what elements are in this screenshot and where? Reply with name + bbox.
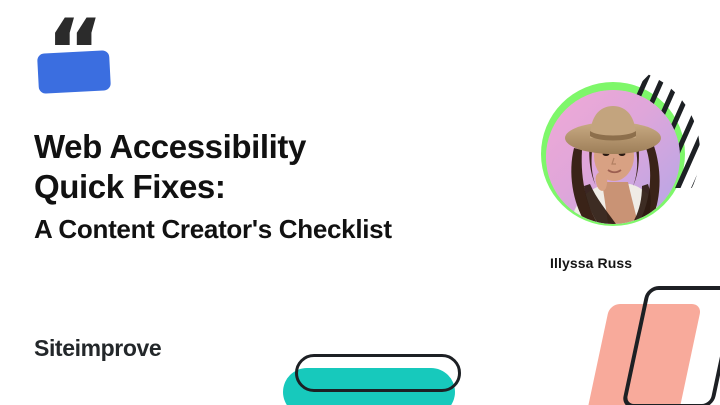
title-line-2: Quick Fixes: <box>34 167 504 207</box>
title-subline: A Content Creator's Checklist <box>34 214 504 245</box>
decoration-pills <box>280 348 480 405</box>
decoration-pill-outline <box>295 354 461 392</box>
presentation-slide: “ Web Accessibility Quick Fixes: A Conte… <box>0 0 720 405</box>
brand-logo-text: Siteimprove <box>34 335 161 362</box>
page-title: Web Accessibility Quick Fixes: A Content… <box>34 127 504 245</box>
quote-badge: “ <box>36 30 146 98</box>
decoration-slants <box>588 282 720 405</box>
avatar-photo <box>546 90 680 224</box>
avatar <box>528 74 678 224</box>
speaker-block: Illyssa Russ <box>520 70 720 280</box>
speaker-name: Illyssa Russ <box>550 255 632 271</box>
quotation-mark-icon: “ <box>46 8 102 96</box>
title-line-1: Web Accessibility <box>34 127 504 167</box>
